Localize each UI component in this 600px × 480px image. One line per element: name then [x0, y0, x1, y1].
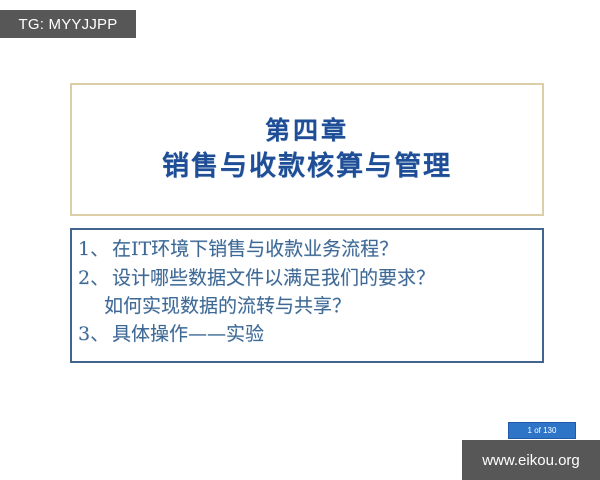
list-item: 3、具体操作——实验: [78, 320, 542, 349]
list-item-text: 在IT环境下销售与收款业务流程？: [112, 238, 398, 260]
page-indicator-label: 1 of 130: [528, 426, 557, 435]
presentation-slide: TG: MYYJJPP 第四章 销售与收款核算与管理 1、在IT环境下销售与收款…: [0, 0, 600, 480]
telegram-watermark-label: TG: MYYJJPP: [19, 16, 118, 33]
slide-title-line-2: 销售与收款核算与管理: [162, 150, 452, 184]
list-item-number: 1、: [78, 235, 112, 264]
telegram-watermark-badge: TG: MYYJJPP: [0, 10, 136, 38]
list-item-text: 具体操作——实验: [112, 323, 264, 345]
site-watermark-label: www.eikou.org: [482, 452, 580, 469]
list-item: 2、设计哪些数据文件以满足我们的要求？: [78, 264, 542, 293]
list-item-text: 设计哪些数据文件以满足我们的要求？: [112, 267, 435, 289]
list-item-number: 3、: [78, 320, 112, 349]
slide-content-box: 1、在IT环境下销售与收款业务流程？ 2、设计哪些数据文件以满足我们的要求？ 如…: [70, 228, 544, 363]
slide-title-box: 第四章 销售与收款核算与管理: [70, 83, 544, 216]
list-item: 1、在IT环境下销售与收款业务流程？: [78, 235, 542, 264]
page-indicator-badge: 1 of 130: [508, 422, 576, 439]
slide-title-line-1: 第四章: [265, 116, 349, 146]
list-item-number: 2、: [78, 264, 112, 293]
list-item-subtext: 如何实现数据的流转与共享？: [78, 293, 542, 320]
site-watermark-badge: www.eikou.org: [462, 440, 600, 480]
